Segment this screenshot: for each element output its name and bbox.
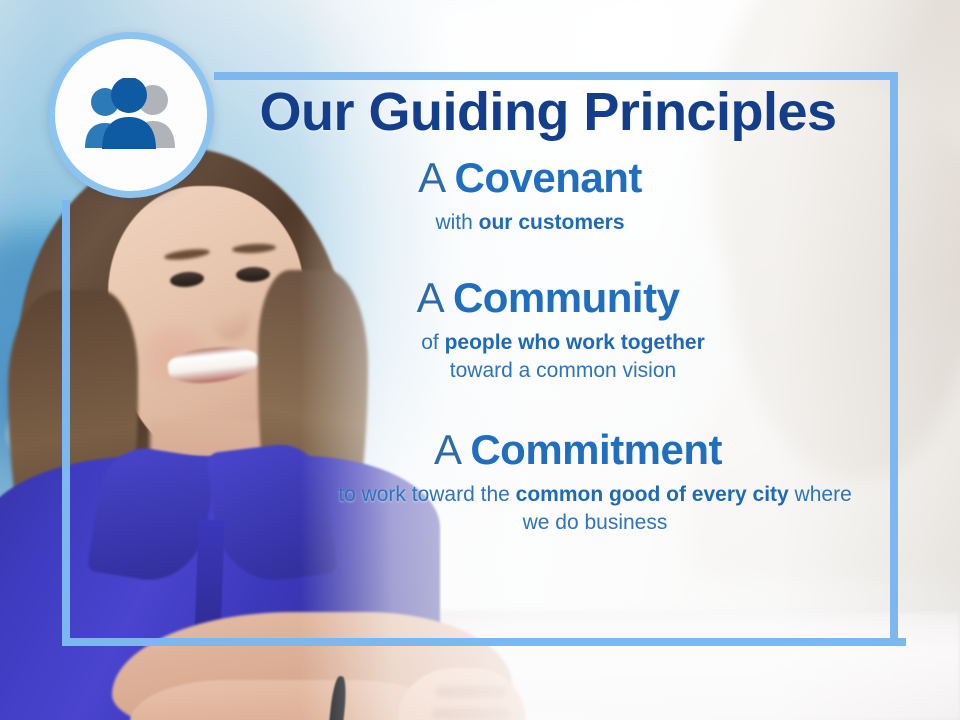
employee-finger (436, 686, 506, 698)
people-group-badge (48, 32, 214, 198)
principles-content: Our Guiding Principles A Covenant with o… (210, 84, 886, 536)
principle-subtext-line2: toward a common vision (450, 359, 676, 382)
principle-subtext-line2: we do business (523, 511, 668, 534)
principle-subtext-bold: people who work together (445, 331, 705, 354)
principle-subtext-prefix: with (435, 211, 478, 234)
principle-article: A (418, 154, 443, 201)
principle-subtext-prefix: of (421, 331, 444, 354)
principle-community: A Community of people who work together … (210, 275, 886, 385)
principle-subtext: of people who work together toward a com… (210, 329, 886, 384)
principle-heading: A Community (210, 275, 886, 320)
principle-keyword: Covenant (455, 154, 642, 201)
principle-subtext-bold: our customers (479, 211, 625, 234)
principle-commitment: A Commitment to work toward the common g… (210, 427, 886, 537)
principle-covenant: A Covenant with our customers (210, 155, 886, 237)
people-group-icon (79, 78, 183, 152)
principle-subtext-prefix: to work toward the (338, 483, 515, 506)
page-title: Our Guiding Principles (210, 84, 886, 141)
principle-article: A (434, 426, 459, 473)
principle-heading: A Covenant (210, 155, 850, 200)
guiding-principles-banner: FLOW AUTOMOTIVE FLOW (0, 0, 960, 720)
principle-subtext-suffix: where (789, 483, 852, 506)
principle-subtext: with our customers (210, 209, 850, 237)
principle-heading: A Commitment (270, 427, 886, 472)
principle-article: A (417, 274, 442, 321)
principle-keyword: Community (453, 274, 680, 321)
employee-finger (432, 708, 510, 720)
principle-subtext: to work toward the common good of every … (270, 481, 886, 536)
principle-subtext-bold: common good of every city (516, 483, 789, 506)
principle-keyword: Commitment (470, 426, 722, 473)
